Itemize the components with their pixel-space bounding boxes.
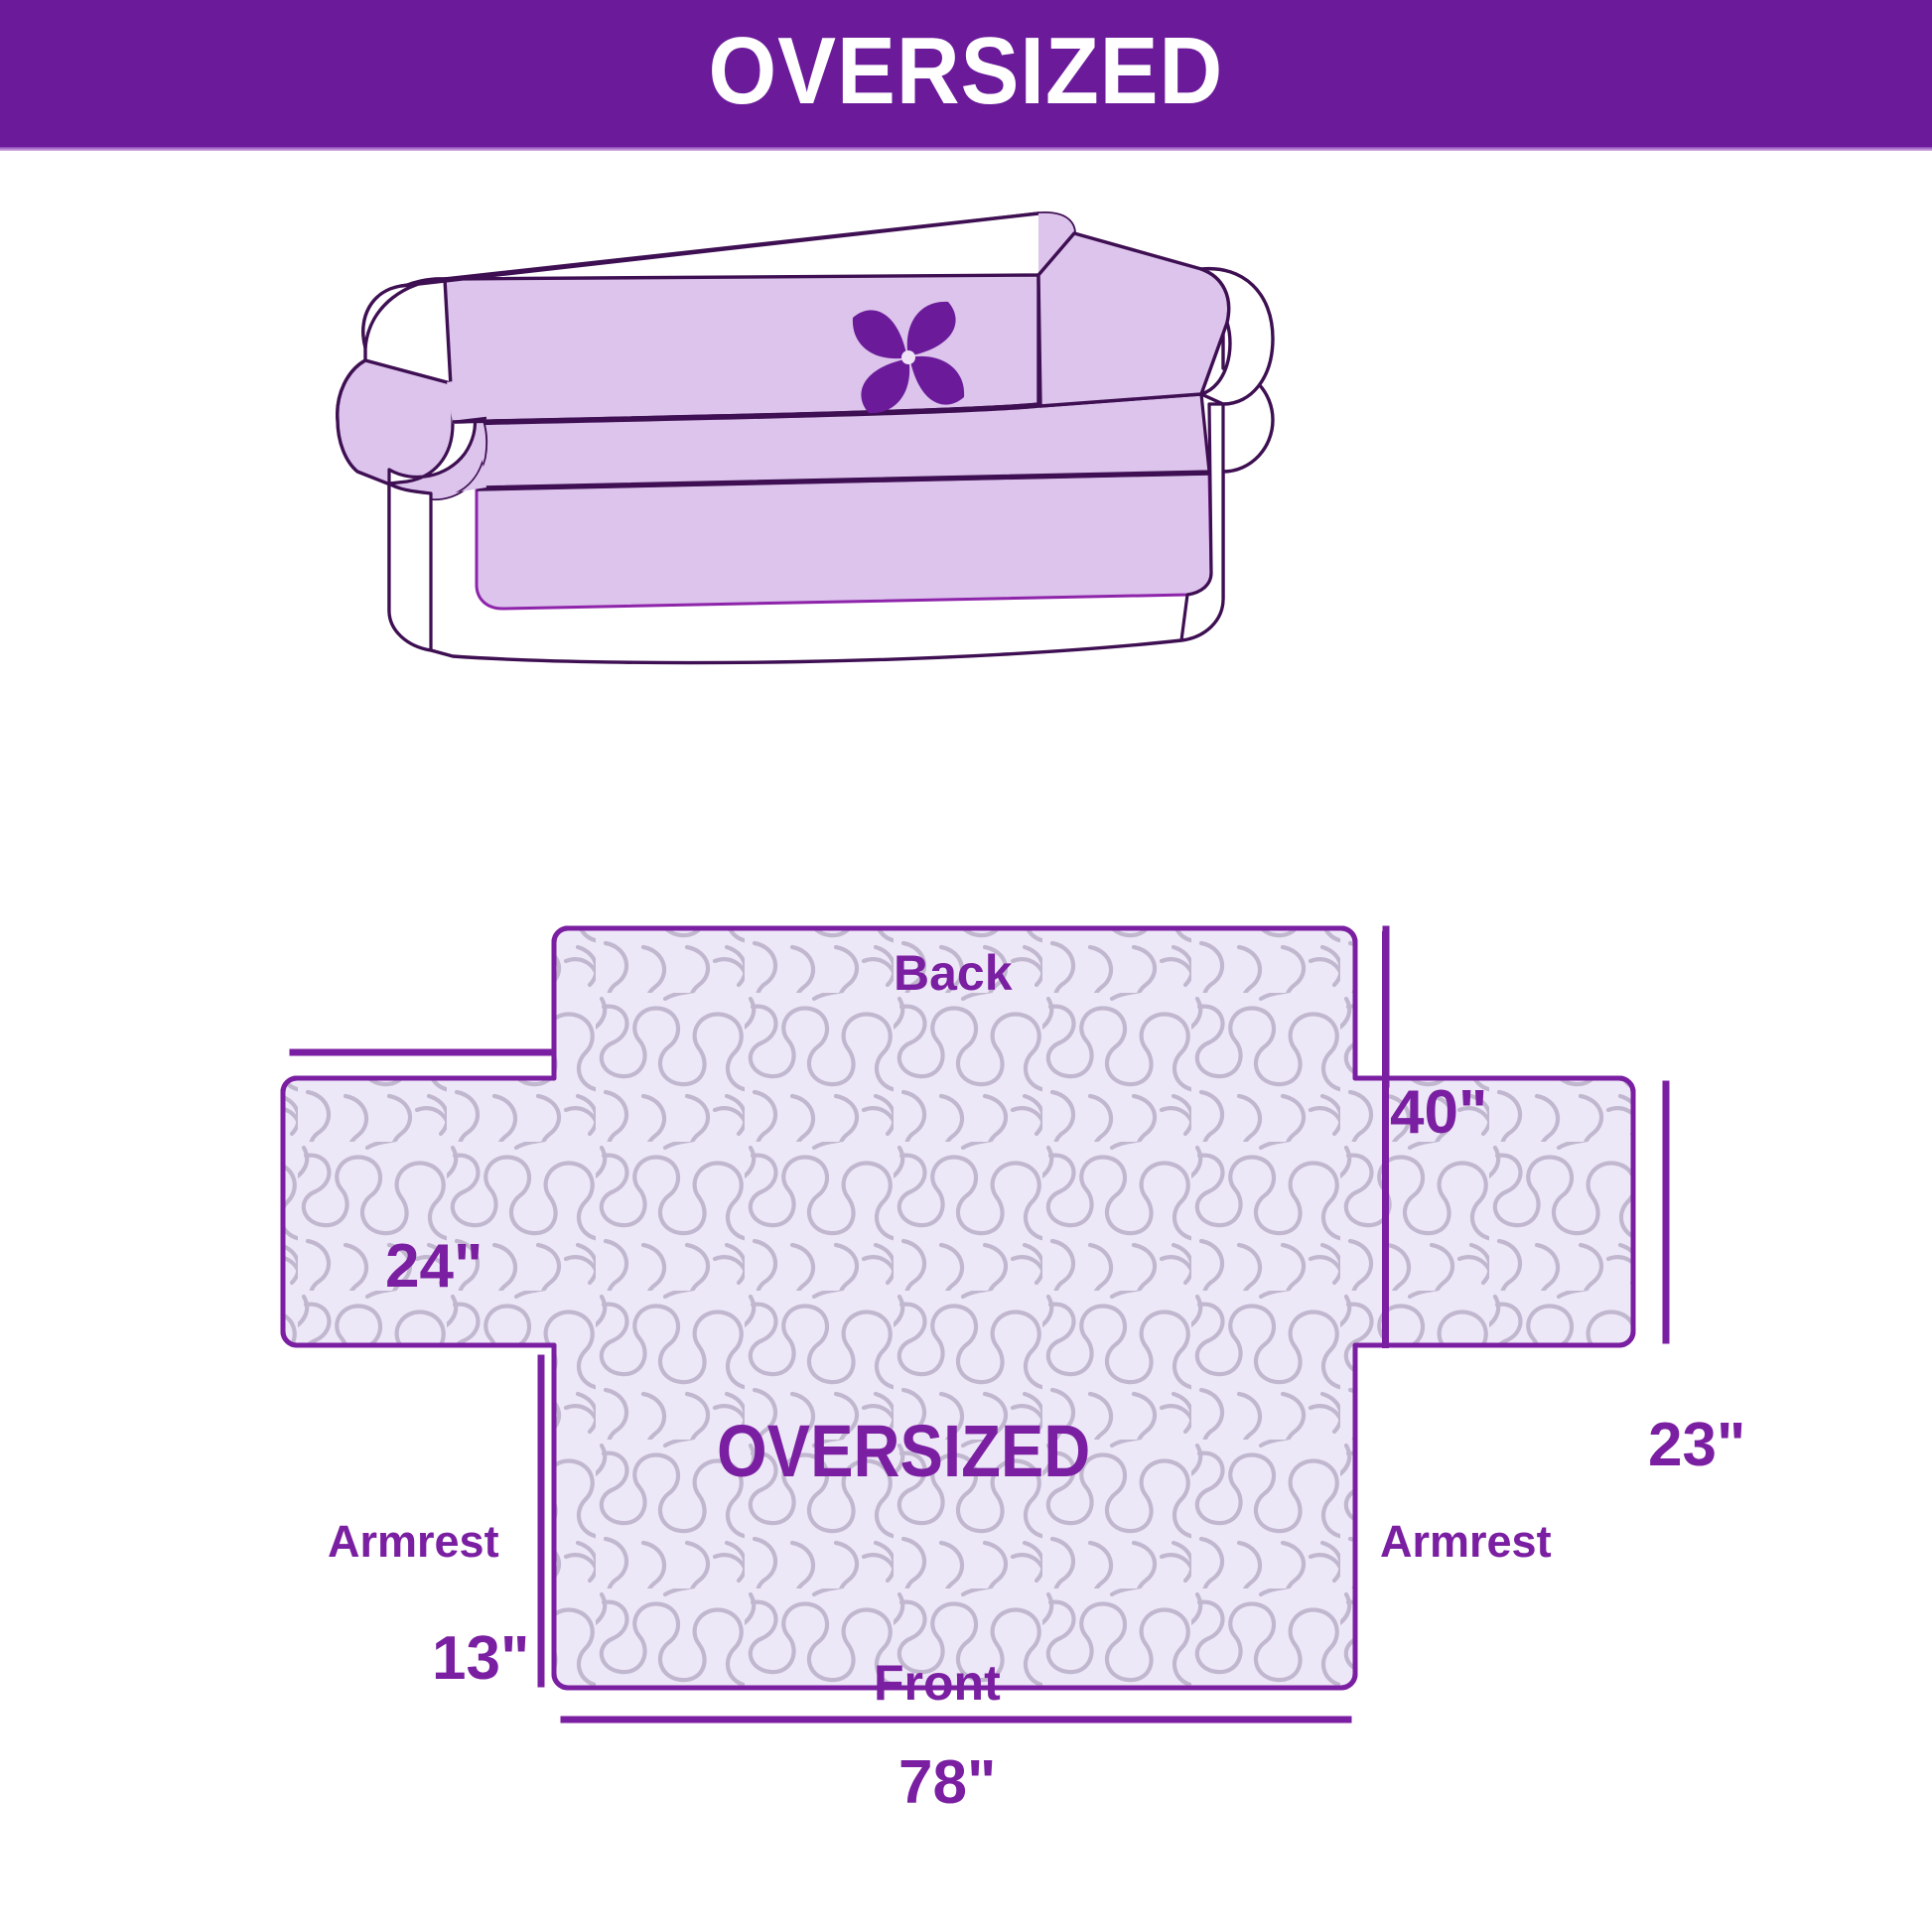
- dimension-label-front-width: 78": [898, 1752, 996, 1814]
- dimension-label-armrest-height: 23": [1648, 1415, 1745, 1476]
- header-underline-divider: [0, 147, 1932, 151]
- panel-label-armrest-left: Armrest: [328, 1519, 499, 1564]
- sofa-illustration: [328, 174, 1311, 690]
- dimension-label-armrest-width: 24": [385, 1236, 483, 1298]
- dimension-label-front-drop: 13": [432, 1628, 529, 1690]
- dimension-label-back-height: 40": [1390, 1082, 1487, 1144]
- panel-label-back: Back: [894, 948, 1013, 998]
- panel-label-oversized: OVERSIZED: [717, 1415, 1090, 1488]
- dimension-line-back-height: [1382, 931, 1389, 1348]
- page-title: OVERSIZED: [709, 24, 1224, 119]
- cover-pattern-shape: [283, 928, 1633, 1688]
- header-banner: OVERSIZED: [0, 0, 1932, 147]
- panel-label-front: Front: [874, 1658, 1001, 1708]
- panel-label-armrest-right: Armrest: [1380, 1519, 1552, 1564]
- flat-pattern-diagram: [0, 695, 1932, 1932]
